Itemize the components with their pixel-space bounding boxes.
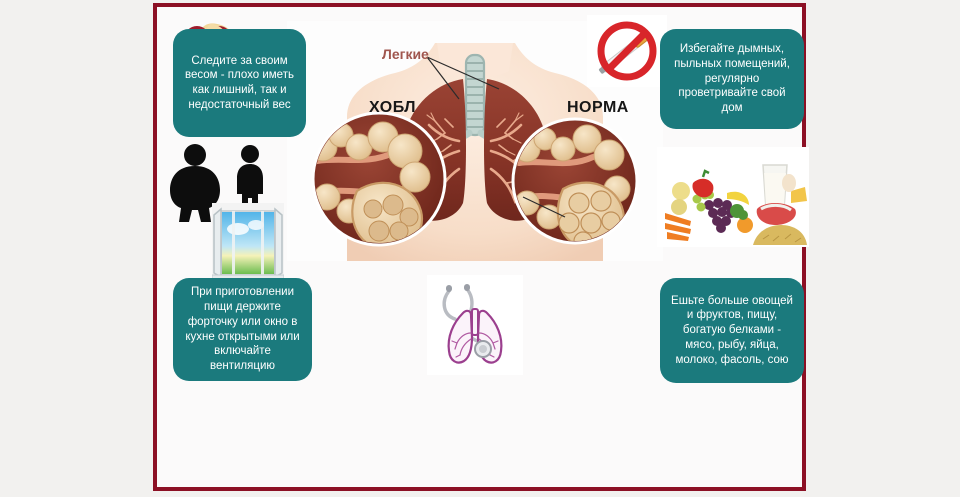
tip-text-smoke-free: Избегайте дымных, пыльных помещений, рег…	[668, 42, 796, 116]
tip-text-weight: Следите за своим весом - плохо иметь как…	[181, 54, 298, 113]
poster-frame: Профилактика ХОБЛ	[153, 3, 806, 491]
no-smoking-icon	[587, 15, 667, 87]
tip-box-nutrition: Ешьте больше овощей и фруктов, пищу, бог…	[660, 278, 804, 383]
tip-box-weight: Следите за своим весом - плохо иметь как…	[173, 29, 306, 137]
tip-box-kitchen: При приготовлении пищи держите форточку …	[173, 278, 312, 381]
healthy-food-icon	[657, 147, 809, 247]
lungs-stethoscope-icon	[427, 275, 523, 375]
poster-canvas: Профилактика ХОБЛ	[157, 7, 802, 487]
tip-box-smoke-free: Избегайте дымных, пыльных помещений, рег…	[660, 29, 804, 129]
open-window-icon	[212, 203, 284, 283]
tip-text-kitchen: При приготовлении пищи держите форточку …	[181, 285, 304, 373]
tip-text-nutrition: Ешьте больше овощей и фруктов, пищу, бог…	[668, 294, 796, 368]
